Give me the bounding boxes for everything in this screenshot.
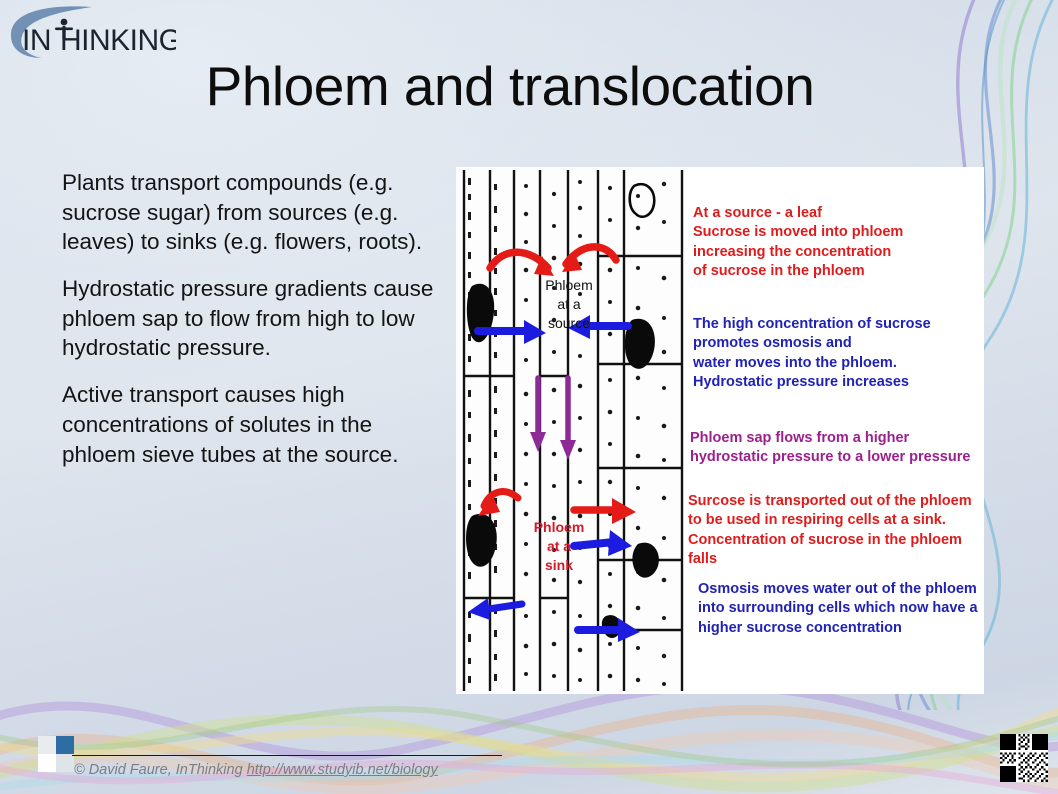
annotation-sap-flow: Phloem sap flows from a higher hydrostat… xyxy=(690,429,970,468)
footer-logo-mark xyxy=(38,736,74,772)
micrograph-drawing xyxy=(456,168,684,693)
svg-text:IN: IN xyxy=(22,24,51,57)
footer-credit-text: © David Faure, InThinking xyxy=(74,762,247,778)
annotation-osmosis-in: The high concentration of sucrose promot… xyxy=(693,315,931,392)
footer-credit: © David Faure, InThinking http://www.stu… xyxy=(74,762,438,778)
diagram-panel: Phloem at a source Phloem at a sink At a… xyxy=(456,167,984,694)
svg-text:HINKING: HINKING xyxy=(60,24,176,57)
slide-canvas: IN HINKING Phloem and translocation Plan… xyxy=(0,0,1058,794)
micrograph-label-sink: Phloem at a sink xyxy=(522,518,596,575)
qr-code[interactable] xyxy=(1000,734,1048,782)
footer-divider xyxy=(72,755,502,756)
body-paragraph-2: Hydrostatic pressure gradients cause phl… xyxy=(62,274,452,363)
body-text: Plants transport compounds (e.g. sucrose… xyxy=(62,168,452,469)
annotation-at-a-sink: Surcose is transported out of the phloem… xyxy=(688,492,984,569)
annotation-osmosis-out: Osmosis moves water out of the phloem in… xyxy=(698,580,978,638)
body-paragraph-3: Active transport causes high concentrati… xyxy=(62,380,452,469)
diagram-annotations: At a source - a leaf Sucrose is moved in… xyxy=(688,167,984,694)
annotation-at-a-source: At a source - a leaf Sucrose is moved in… xyxy=(693,204,903,281)
micrograph-label-source: Phloem at a source xyxy=(532,276,606,333)
footer-url-link[interactable]: http://www.studyib.net/biology xyxy=(247,762,438,778)
inthinking-logo: IN HINKING xyxy=(6,4,176,60)
page-title: Phloem and translocation xyxy=(0,58,1020,116)
body-paragraph-1: Plants transport compounds (e.g. sucrose… xyxy=(62,168,452,257)
phloem-micrograph: Phloem at a source Phloem at a sink xyxy=(456,168,684,693)
